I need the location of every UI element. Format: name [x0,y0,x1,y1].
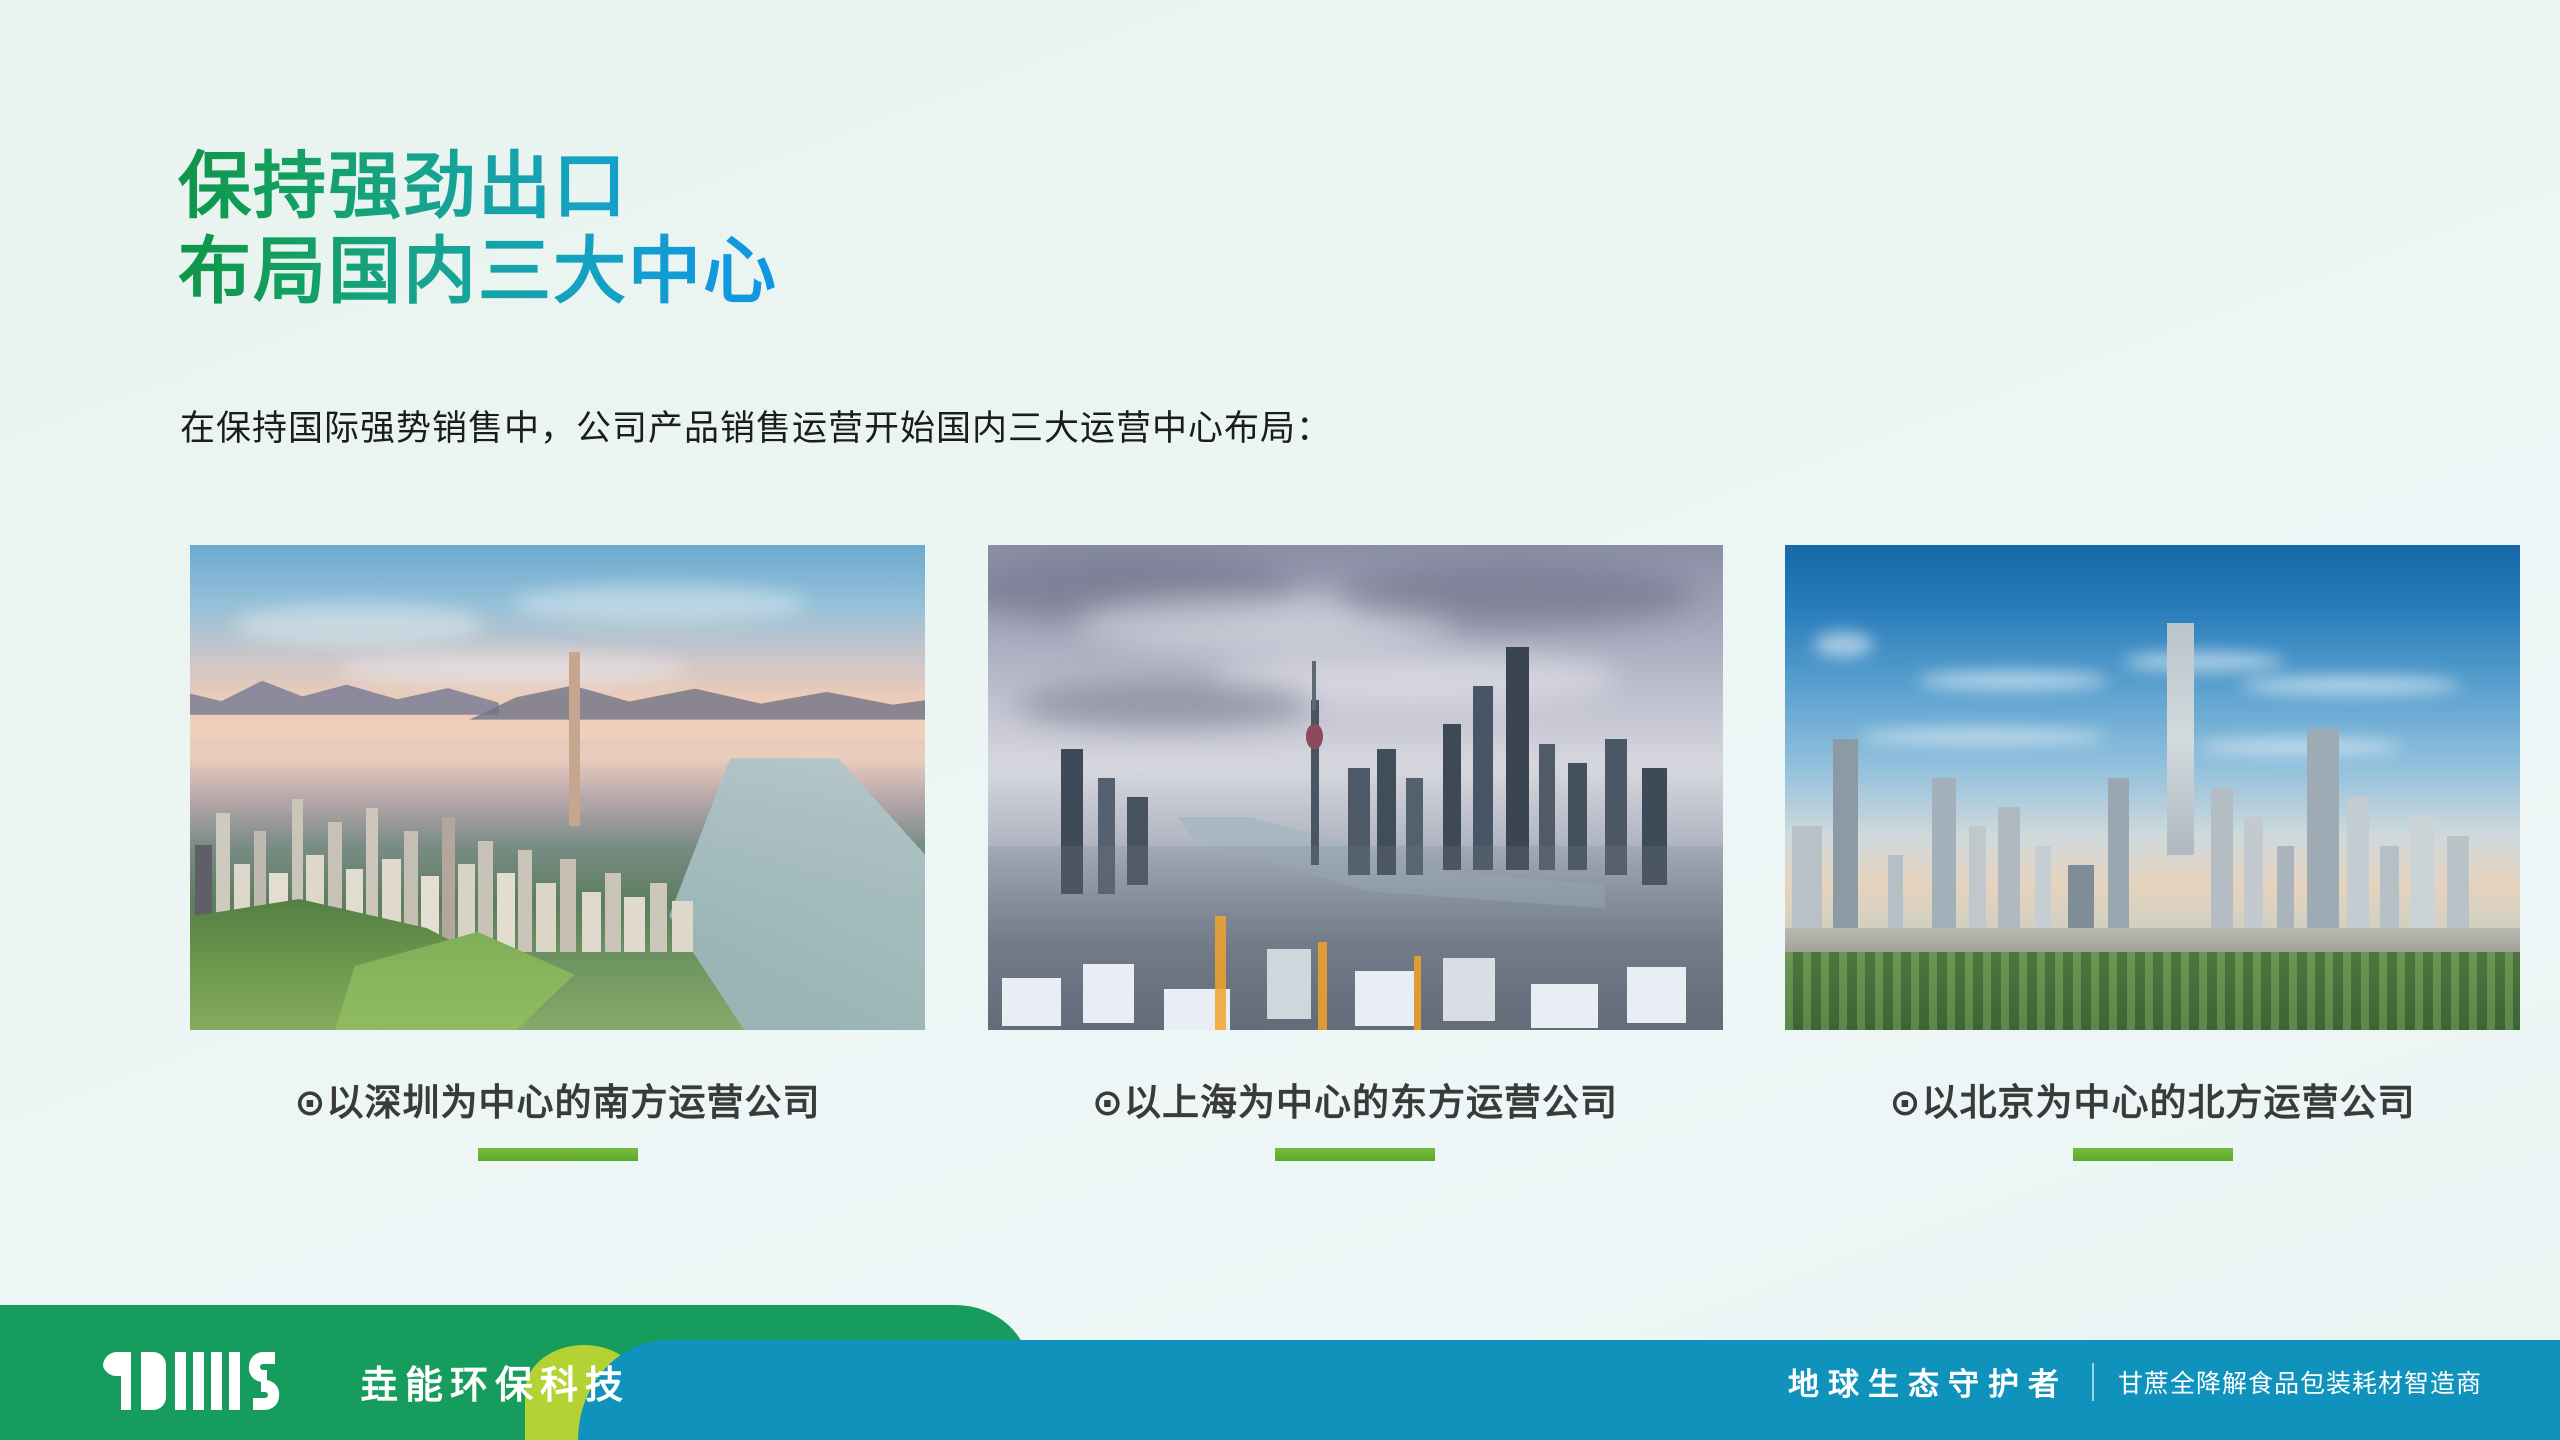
shenzhen-aerial-photo [190,545,925,1030]
card-beijing[interactable]: ⊙以北京为中心的北方运营公司 [1785,545,2520,1161]
cloud-shape [513,584,807,623]
card-shenzhen[interactable]: ⊙以深圳为中心的南方运营公司 [190,545,925,1161]
operation-center-cards: ⊙以深圳为中心的南方运营公司 [190,545,2520,1161]
footer-slogan: 地球生态守护者 [1788,1359,2068,1404]
page-title-line-2: 布局国内三大中心 [178,233,778,312]
page-title-line-1: 保持强劲出口 [178,148,778,227]
foreground-city [988,846,1723,1030]
slide-root: 保持强劲出口 布局国内三大中心 在保持国际强势销售中，公司产品销售运营开始国内三… [0,0,2560,1440]
caption-underline-bar [2073,1148,2233,1161]
footer-slogan-group: 地球生态守护者 甘蔗全降解食品包装耗材智造商 [1788,1359,2482,1404]
footer: 垚能环保科技 地球生态守护者 甘蔗全降解食品包装耗材智造商 [0,1305,2560,1440]
cloud-shape [234,603,484,647]
brand-name-cn: 垚能环保科技 [360,1354,630,1409]
tree-belt [1785,952,2520,1030]
ring-road [1785,928,2520,952]
card-caption: ⊙以深圳为中心的南方运营公司 [190,1072,925,1126]
card-caption: ⊙以北京为中心的北方运营公司 [1785,1072,2520,1126]
card-shanghai[interactable]: ⊙以上海为中心的东方运营公司 [988,545,1723,1161]
yoiins-wordmark-icon [103,1352,335,1410]
footer-sub-slogan: 甘蔗全降解食品包装耗材智造商 [2118,1364,2482,1400]
cloud-shape [337,652,690,686]
lead-paragraph: 在保持国际强势销售中，公司产品销售运营开始国内三大运营中心布局： [180,400,1332,451]
caption-underline-bar [1275,1148,1435,1161]
page-title: 保持强劲出口 布局国内三大中心 [178,148,778,312]
shanghai-skyline-photo [988,545,1723,1030]
card-caption: ⊙以上海为中心的东方运营公司 [988,1072,1723,1126]
landmark-tower [569,652,580,827]
beijing-cbd-photo [1785,545,2520,1030]
brand-logo[interactable]: 垚能环保科技 [103,1352,630,1410]
footer-divider [2092,1363,2094,1401]
caption-underline-bar [478,1148,638,1161]
